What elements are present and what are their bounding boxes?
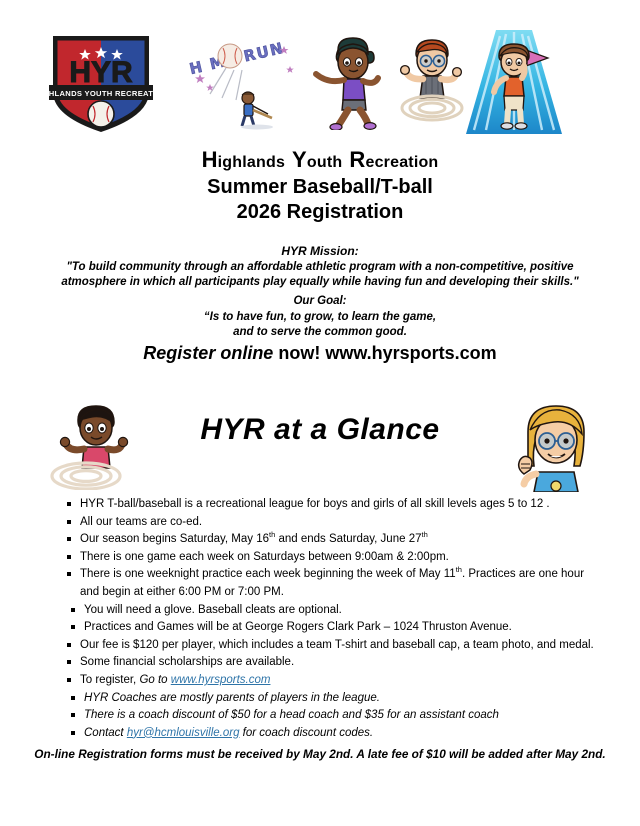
- hyr-shield-icon: HYR HIGHLANDS YOUTH RECREATION: [47, 30, 155, 136]
- glance-heading: HYR at a Glance: [0, 412, 640, 448]
- square-bullet-icon: [67, 660, 71, 664]
- goal-block: Our Goal: “Is to have fun, to grow, to l…: [0, 294, 640, 341]
- glasses-kid-figure: [392, 34, 472, 130]
- avatar-pennant-kid: [466, 30, 562, 134]
- square-bullet-icon: [67, 555, 71, 559]
- flyer-page: HYR HIGHLANDS YOUTH RECREATION H ME RUN: [0, 0, 640, 826]
- list-item: HYR Coaches are mostly parents of player…: [0, 690, 640, 708]
- register-rest-text: now! www.hyrsports.com: [273, 343, 496, 363]
- square-bullet-icon: [71, 696, 75, 700]
- list-item-label-mid: and ends Saturday, June 27: [275, 533, 421, 545]
- square-bullet-icon: [67, 643, 71, 647]
- square-bullet-icon: [67, 678, 71, 682]
- home-run-graphic: H ME RUN: [186, 32, 306, 132]
- square-bullet-icon: [71, 625, 75, 629]
- list-item: Our fee is $120 per player, which includ…: [0, 637, 640, 655]
- pennant-kid-figure: [466, 30, 562, 134]
- avatar-glasses-kid: [392, 34, 472, 130]
- square-bullet-icon: [67, 520, 71, 524]
- home-run-clipart: H ME RUN: [186, 32, 306, 132]
- register-callout: Register online now! www.hyrsports.com: [0, 342, 640, 364]
- list-item: Contact hyr@hcmlouisville.org for coach …: [0, 725, 640, 743]
- running-girl-figure: [308, 34, 386, 130]
- goal-line-1: “Is to have fun, to grow, to learn the g…: [0, 310, 640, 326]
- square-bullet-icon: [67, 537, 71, 541]
- list-item: Some financial scholarships are availabl…: [0, 654, 640, 672]
- subtitle-line-2: 2026 Registration: [0, 200, 640, 225]
- header-artwork: HYR HIGHLANDS YOUTH RECREATION H ME RUN: [0, 0, 640, 145]
- list-item-label: You will need a glove. Baseball cleats a…: [84, 604, 342, 616]
- list-item: Our season begins Saturday, May 16th and…: [0, 531, 640, 549]
- list-item-label: Our fee is $120 per player, which includ…: [80, 639, 594, 651]
- square-bullet-icon: [67, 572, 71, 576]
- square-bullet-icon: [67, 502, 71, 506]
- list-item: There is one weeknight practice each wee…: [0, 566, 640, 601]
- goal-heading: Our Goal:: [0, 294, 640, 310]
- list-item-label: Some financial scholarships are availabl…: [80, 656, 294, 668]
- svg-text:HIGHLANDS YOUTH RECREATION: HIGHLANDS YOUTH RECREATION: [47, 89, 155, 98]
- mission-block: HYR Mission: "To build community through…: [0, 244, 640, 291]
- list-item: To register, Go to www.hyrsports.com: [0, 672, 640, 690]
- list-item-label: There is one weeknight practice each wee…: [80, 568, 456, 580]
- list-item-label: There is a coach discount of $50 for a h…: [84, 709, 499, 721]
- title-word-highlands: ighlands: [218, 154, 285, 171]
- title-block: HighlandsYouthRecreation Summer Baseball…: [0, 148, 640, 225]
- subtitle-line-1: Summer Baseball/T-ball: [0, 175, 640, 200]
- list-item: There is one game each week on Saturdays…: [0, 549, 640, 567]
- title-word-youth: outh: [307, 154, 342, 171]
- title-cap-h: H: [202, 147, 218, 172]
- mission-heading: HYR Mission:: [0, 244, 640, 260]
- batter-figure: [241, 92, 273, 130]
- register-italic-text: Register online: [143, 343, 273, 363]
- list-item: All our teams are co-ed.: [0, 514, 640, 532]
- list-item-label: Our season begins Saturday, May 16: [80, 533, 269, 545]
- list-item-label: Contact: [84, 727, 127, 739]
- avatar-running-girl: [308, 34, 386, 130]
- list-item-label: HYR Coaches are mostly parents of player…: [84, 692, 380, 704]
- title-cap-r: R: [349, 147, 365, 172]
- details-list: HYR T-ball/baseball is a recreational le…: [0, 496, 640, 742]
- title-word-recreation: ecreation: [365, 154, 438, 171]
- title-cap-y: Y: [292, 147, 307, 172]
- email-link[interactable]: hyr@hcmlouisville.org: [127, 727, 240, 739]
- page-title: HighlandsYouthRecreation: [0, 148, 640, 175]
- hyrsports-link[interactable]: www.hyrsports.com: [171, 674, 271, 686]
- square-bullet-icon: [71, 731, 75, 735]
- list-item-label: HYR T-ball/baseball is a recreational le…: [80, 498, 550, 510]
- ordinal-suffix: th: [421, 530, 427, 539]
- square-bullet-icon: [71, 713, 75, 717]
- mission-line-1: "To build community through an affordabl…: [0, 260, 640, 276]
- list-item-label-after: for coach discount codes.: [239, 727, 373, 739]
- svg-text:HYR: HYR: [69, 56, 133, 89]
- list-item: You will need a glove. Baseball cleats a…: [0, 602, 640, 620]
- hyr-logo: HYR HIGHLANDS YOUTH RECREATION: [47, 30, 155, 136]
- list-item: Practices and Games will be at George Ro…: [0, 619, 640, 637]
- list-item: There is a coach discount of $50 for a h…: [0, 707, 640, 725]
- list-item-label: All our teams are co-ed.: [80, 516, 202, 528]
- list-item: HYR T-ball/baseball is a recreational le…: [0, 496, 640, 514]
- list-item-label: To register,: [80, 674, 139, 686]
- square-bullet-icon: [71, 608, 75, 612]
- deadline-notice: On-line Registration forms must be recei…: [0, 746, 640, 762]
- list-item-label: There is one game each week on Saturdays…: [80, 551, 449, 563]
- list-item-label: Practices and Games will be at George Ro…: [84, 621, 512, 633]
- list-item-emphasis: Go to: [139, 674, 170, 686]
- goal-line-2: and to serve the common good.: [0, 325, 640, 341]
- mission-line-2: atmosphere in which all participants pla…: [0, 275, 640, 291]
